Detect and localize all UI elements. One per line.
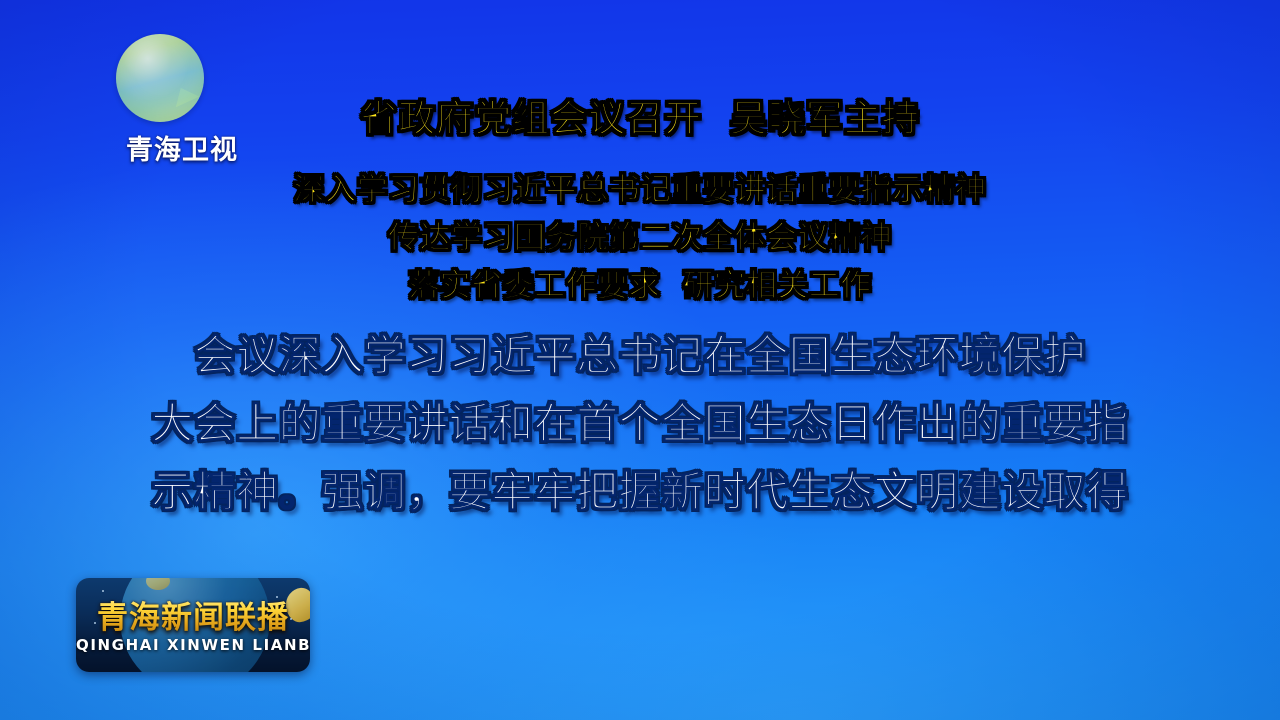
body-line-1: 会议深入学习习近平总书记在全国生态环境保护 xyxy=(0,322,1280,390)
program-title-cn: 青海新闻联播 xyxy=(76,592,310,637)
program-badge: 青海新闻联播 QINGHAI XINWEN LIANBO xyxy=(76,578,310,672)
globe-landmass xyxy=(146,578,170,590)
broadcast-screen: 青海卫视 省政府党组会议召开 吴晓军主持 深入学习贯彻习近平总书记重要讲话重要指… xyxy=(0,0,1280,720)
program-title-en: QINGHAI XINWEN LIANBO xyxy=(76,636,310,654)
body-line-2: 大会上的重要讲话和在首个全国生态日作出的重要指 xyxy=(0,390,1280,458)
globe-landmass xyxy=(221,578,261,581)
subtitle-line-3: 落实省委工作要求 研究相关工作 xyxy=(0,262,1280,310)
body-text-block: 会议深入学习习近平总书记在全国生态环境保护 大会上的重要讲话和在首个全国生态日作… xyxy=(0,322,1280,526)
body-line-3: 示精神。强调，要牢牢把握新时代生态文明建设取得 xyxy=(0,458,1280,526)
headline-block: 省政府党组会议召开 吴晓军主持 xyxy=(0,96,1280,142)
headline-text: 省政府党组会议召开 吴晓军主持 xyxy=(0,96,1280,142)
subtitle-line-1: 深入学习贯彻习近平总书记重要讲话重要指示精神 xyxy=(0,166,1280,214)
subtitle-line-2: 传达学习国务院第二次全体会议精神 xyxy=(0,214,1280,262)
subtitle-block: 深入学习贯彻习近平总书记重要讲话重要指示精神 传达学习国务院第二次全体会议精神 … xyxy=(0,166,1280,310)
